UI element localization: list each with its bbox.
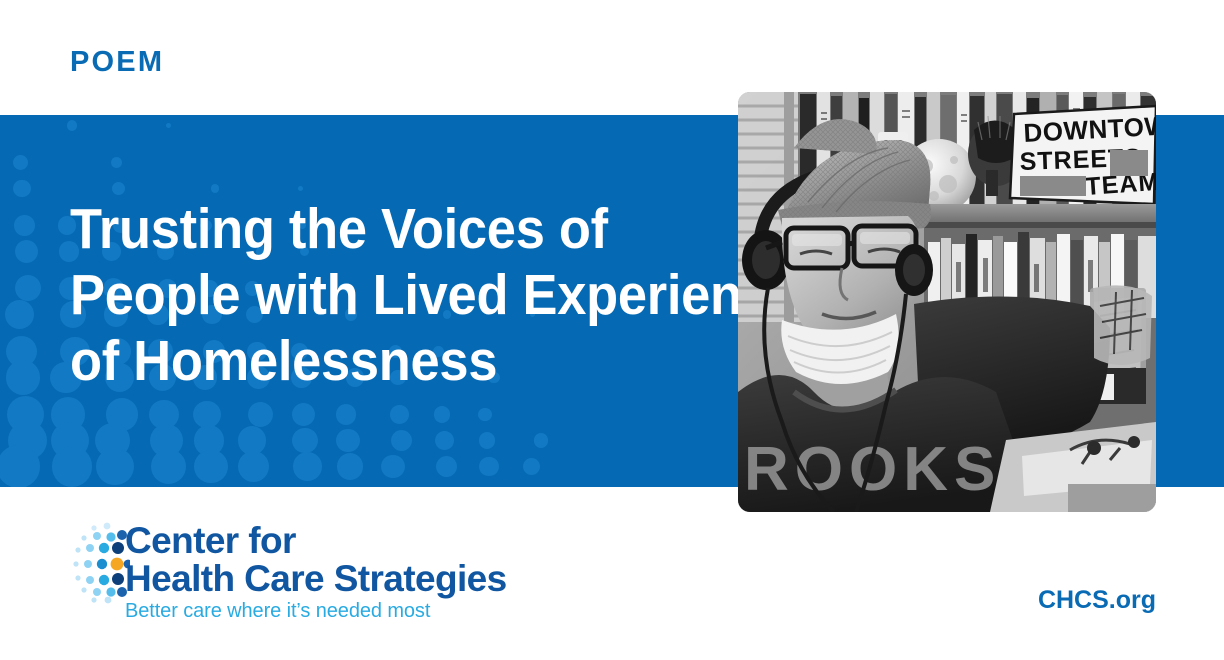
decorative-dot <box>149 400 179 430</box>
decorative-dot <box>391 430 412 451</box>
decorative-dot <box>292 403 315 426</box>
decorative-dot <box>150 424 183 457</box>
decorative-dot <box>194 450 227 483</box>
decorative-dot <box>7 396 44 433</box>
decorative-dot <box>96 448 134 486</box>
poem-label: POEM <box>70 48 164 77</box>
decorative-dot <box>13 155 28 170</box>
decorative-dot <box>434 406 450 422</box>
decorative-dot <box>436 456 458 478</box>
decorative-dot <box>479 457 498 476</box>
decorative-dot <box>523 458 540 475</box>
poster-canvas: POEM Trusting the Voices of People with … <box>0 0 1224 660</box>
decorative-dot <box>248 402 273 427</box>
decorative-dot <box>13 180 31 198</box>
decorative-dot <box>67 120 77 130</box>
decorative-dot <box>6 360 40 394</box>
svg-text:ROOKS: ROOKS <box>744 435 1001 504</box>
page-title: Trusting the Voices of People with Lived… <box>70 196 696 394</box>
decorative-dot <box>337 453 363 479</box>
page-title-line-3: of Homelessness <box>70 328 696 394</box>
decorative-dot <box>298 186 303 191</box>
decorative-dot <box>292 428 318 454</box>
website-url[interactable]: CHCS.org <box>1038 588 1156 613</box>
decorative-dot <box>166 123 172 129</box>
feature-photo: DOWNTOWN STREETS TEAM <box>738 92 1156 512</box>
page-title-line-1: Trusting the Voices of <box>70 196 696 262</box>
decorative-dot <box>52 446 92 486</box>
decorative-dot <box>293 452 322 481</box>
decorative-dot <box>14 215 35 236</box>
decorative-dot <box>106 398 138 430</box>
decorative-dot <box>193 401 221 429</box>
decorative-dot <box>381 455 405 479</box>
decorative-dot <box>51 422 88 459</box>
decorative-dot <box>479 432 496 449</box>
decorative-dot <box>238 426 266 454</box>
chcs-wordmark-line-1: Center for <box>125 522 555 560</box>
downtown-streets-team-sign: DOWNTOWN STREETS TEAM <box>1010 106 1156 204</box>
decorative-dot <box>95 423 130 458</box>
decorative-dot <box>478 408 492 422</box>
decorative-dot <box>5 300 34 329</box>
chcs-radial-dot-mark-icon <box>70 520 130 612</box>
chcs-wordmark-line-2: Health Care Strategies <box>125 560 555 598</box>
decorative-dot <box>15 240 38 263</box>
decorative-dot <box>15 275 41 301</box>
decorative-dot <box>336 429 360 453</box>
decorative-dot <box>8 421 48 461</box>
decorative-dot <box>194 425 224 455</box>
decorative-dot <box>111 157 122 168</box>
decorative-dot <box>211 184 220 193</box>
decorative-dot <box>112 182 125 195</box>
decorative-dot <box>6 336 37 367</box>
decorative-dot <box>336 404 357 425</box>
feature-photo-image: DOWNTOWN STREETS TEAM <box>738 92 1156 512</box>
decorative-dot <box>151 449 186 484</box>
decorative-dot <box>51 397 86 432</box>
decorative-dot <box>435 431 454 450</box>
decorative-dot <box>0 445 40 487</box>
chcs-wordmark: Center for Health Care Strategies Better… <box>125 522 555 622</box>
decorative-dot <box>390 405 408 423</box>
decorative-dot <box>238 451 269 482</box>
decorative-dot <box>534 433 548 447</box>
chcs-tagline: Better care where it’s needed most <box>125 600 555 622</box>
chcs-logo[interactable]: Center for Health Care Strategies Better… <box>70 520 490 616</box>
page-title-line-2: People with Lived Experience <box>70 262 696 328</box>
